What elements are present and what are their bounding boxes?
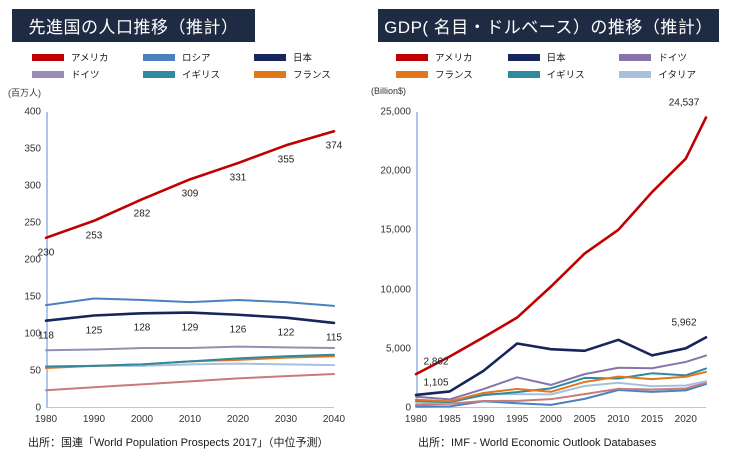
legend-label: フランス — [435, 67, 473, 81]
population-chart-panel: 先進国の人口推移（推計） アメリカ ロシア 日本 ドイツ イギリス — [0, 0, 365, 464]
population-legend: アメリカ ロシア 日本 ドイツ イギリス フランス — [0, 50, 365, 84]
legend-item: アメリカ — [32, 50, 143, 64]
data-label: 125 — [86, 325, 103, 336]
x-tick-label: 2040 — [323, 414, 345, 425]
series-line-その他 — [46, 374, 334, 390]
legend-row: フランス イギリス イタリア — [366, 67, 731, 81]
x-tick-label: 2020 — [227, 414, 249, 425]
legend-swatch-italy — [619, 71, 651, 78]
y-tick-label: 300 — [24, 181, 41, 192]
x-tick-label: 2005 — [573, 414, 595, 425]
legend-row: アメリカ 日本 ドイツ — [366, 50, 731, 64]
data-label: 122 — [278, 327, 295, 338]
legend-label: アメリカ — [71, 50, 109, 64]
legend-swatch-germany — [32, 71, 64, 78]
legend-item: フランス — [254, 67, 365, 81]
legend-swatch-france — [254, 71, 286, 78]
series-line-アメリカ — [46, 131, 334, 238]
legend-swatch-russia — [143, 54, 175, 61]
legend-swatch-germany — [619, 54, 651, 61]
legend-item: ロシア — [143, 50, 254, 64]
data-label: 355 — [278, 155, 295, 166]
legend-row: ドイツ イギリス フランス — [0, 67, 365, 81]
y-tick-label: 0 — [35, 403, 41, 414]
data-label: 253 — [86, 230, 103, 241]
x-tick-label: 2000 — [131, 414, 153, 425]
y-tick-label: 5,000 — [386, 343, 411, 354]
y-tick-label: 250 — [24, 218, 41, 229]
legend-swatch-uk — [143, 71, 175, 78]
legend-label: アメリカ — [435, 50, 473, 64]
series-line-ドイツ — [46, 347, 334, 351]
gdp-chart-panel: GDP( 名目・ドルベース）の推移（推計） アメリカ 日本 ドイツ フランス — [366, 0, 731, 464]
legend-label: 日本 — [547, 50, 566, 64]
x-tick-label: 2010 — [607, 414, 629, 425]
y-axis-unit: (百万人) — [8, 86, 41, 99]
x-tick-label: 2020 — [675, 414, 697, 425]
data-label: 24,537 — [669, 98, 700, 109]
legend-label: イタリア — [658, 67, 696, 81]
data-label: 309 — [182, 189, 199, 200]
legend-label: ロシア — [182, 50, 211, 64]
x-tick-label: 2010 — [179, 414, 201, 425]
x-tick-label: 1995 — [506, 414, 528, 425]
data-label: 331 — [230, 173, 247, 184]
legend-item: イギリス — [143, 67, 254, 81]
x-tick-label: 2030 — [275, 414, 297, 425]
x-tick-label: 1985 — [439, 414, 461, 425]
legend-label: 日本 — [293, 50, 312, 64]
legend-item: イタリア — [619, 67, 731, 81]
legend-label: イギリス — [547, 67, 585, 81]
legend-label: ドイツ — [658, 50, 687, 64]
y-tick-label: 50 — [30, 366, 41, 377]
y-tick-label: 150 — [24, 292, 41, 303]
y-tick-label: 0 — [405, 403, 411, 414]
legend-label: ドイツ — [71, 67, 100, 81]
legend-item: 日本 — [254, 50, 365, 64]
legend-swatch-uk — [508, 71, 540, 78]
y-tick-label: 25,000 — [380, 107, 411, 118]
y-tick-label: 10,000 — [380, 284, 411, 295]
y-tick-label: 350 — [24, 144, 41, 155]
data-label: 115 — [326, 332, 342, 343]
x-tick-label: 1980 — [405, 414, 427, 425]
legend-item: 日本 — [508, 50, 620, 64]
y-axis-unit: (Billion$) — [371, 86, 406, 96]
series-line-アメリカ — [416, 117, 706, 374]
legend-item: ドイツ — [619, 50, 731, 64]
legend-label: イギリス — [182, 67, 220, 81]
data-label: 126 — [230, 324, 247, 335]
legend-swatch-japan — [508, 54, 540, 61]
data-label: 118 — [38, 330, 54, 341]
y-tick-label: 400 — [24, 107, 41, 118]
data-label: 2,862 — [423, 357, 448, 368]
gdp-plot-area: 05,00010,00015,00020,00025,000 198019851… — [416, 112, 706, 408]
x-tick-label: 1980 — [35, 414, 57, 425]
data-label: 5,962 — [671, 318, 696, 329]
x-tick-label: 2000 — [540, 414, 562, 425]
data-label: 1,105 — [423, 377, 448, 388]
population-chart-title: 先進国の人口推移（推計） — [12, 9, 255, 42]
legend-item: イギリス — [508, 67, 620, 81]
data-label: 374 — [326, 141, 343, 152]
legend-swatch-america — [396, 54, 428, 61]
x-tick-label: 2015 — [641, 414, 663, 425]
data-label: 230 — [38, 247, 55, 258]
legend-row: アメリカ ロシア 日本 — [0, 50, 365, 64]
data-label: 129 — [182, 322, 199, 333]
gdp-chart-title: GDP( 名目・ドルベース）の推移（推計） — [378, 9, 719, 42]
x-tick-label: 1990 — [83, 414, 105, 425]
legend-item: アメリカ — [396, 50, 508, 64]
gdp-source: 出所：IMF - World Economic Outlook Database… — [418, 434, 656, 450]
gdp-legend: アメリカ 日本 ドイツ フランス イギリス イタリア — [366, 50, 731, 84]
legend-item: ドイツ — [32, 67, 143, 81]
legend-swatch-france — [396, 71, 428, 78]
legend-swatch-japan — [254, 54, 286, 61]
population-plot-area: 050100150200250300350400 198019902000201… — [46, 112, 334, 408]
y-tick-label: 15,000 — [380, 225, 411, 236]
legend-item: フランス — [396, 67, 508, 81]
legend-swatch-america — [32, 54, 64, 61]
population-source: 出所：国連「World Population Prospects 2017」（中… — [28, 434, 329, 450]
data-label: 282 — [134, 209, 151, 220]
data-label: 128 — [134, 323, 151, 334]
legend-label: フランス — [293, 67, 331, 81]
series-line-ロシア — [46, 298, 334, 305]
y-tick-label: 20,000 — [380, 166, 411, 177]
gdp-lines — [416, 112, 706, 408]
x-tick-label: 1990 — [472, 414, 494, 425]
